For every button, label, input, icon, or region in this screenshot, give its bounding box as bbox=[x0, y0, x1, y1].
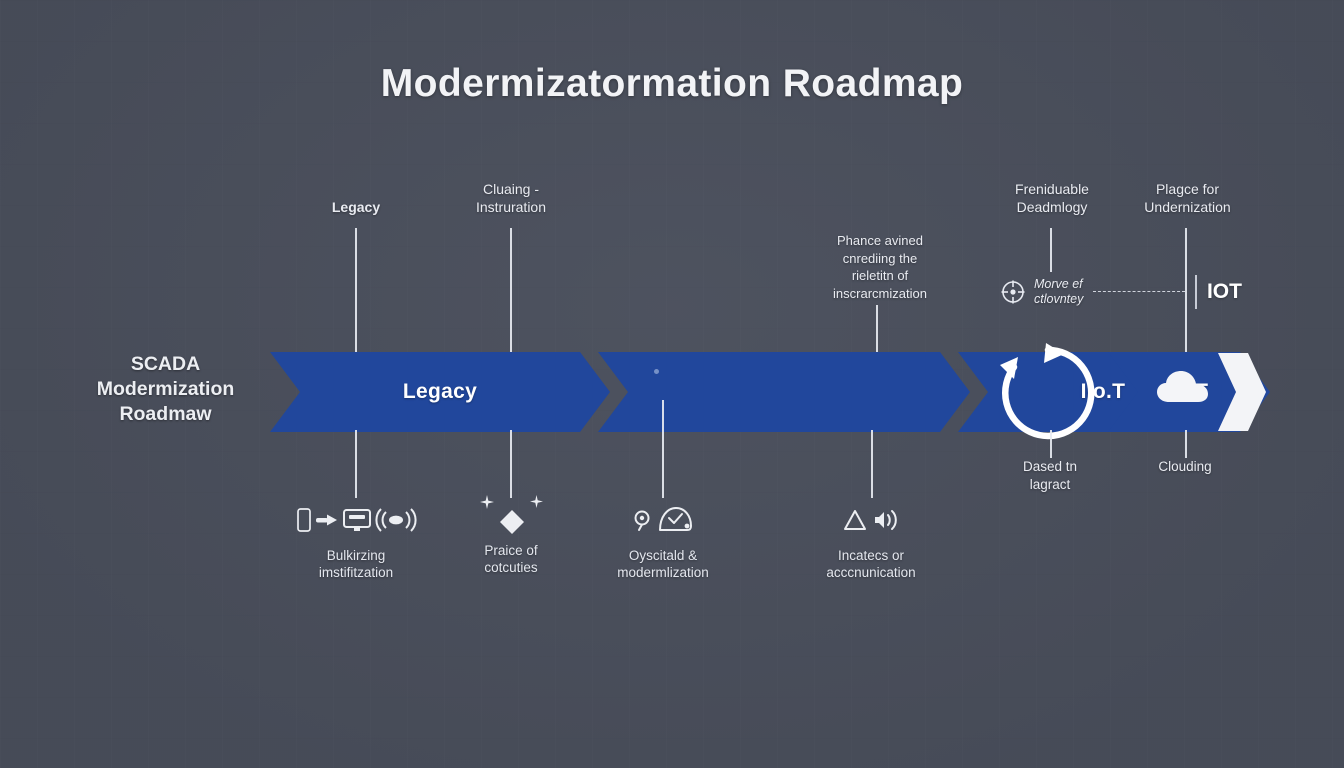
connector-line-incatecs bbox=[871, 430, 873, 498]
callout-freniduable: Freniduable Deadmlogy bbox=[982, 180, 1122, 216]
arrow-right-icon bbox=[316, 513, 338, 527]
callout-phance-line-1: Phance avined bbox=[792, 232, 968, 250]
callout-phance: Phance avined cnrediing the rieletitn of… bbox=[792, 232, 968, 302]
connector-line-phance-top bbox=[876, 305, 878, 355]
icon-group-incatecs: Incatecs or acccnunication bbox=[776, 500, 966, 581]
callout-freniduable-line-2: Deadmlogy bbox=[982, 198, 1122, 216]
speaker-icon bbox=[872, 509, 900, 531]
icon-group-oyscitald-caption-line-2: modermlization bbox=[568, 564, 758, 581]
left-heading-block: SCADA Modermization Roadmaw bbox=[58, 352, 273, 427]
icon-group-oyscitald-caption: Oyscitald & modermlization bbox=[568, 547, 758, 581]
banner-segment-2[interactable] bbox=[598, 352, 970, 432]
left-heading-line-1: SCADA bbox=[58, 352, 273, 377]
left-heading-line-2: Modermization bbox=[58, 377, 273, 402]
connector-line-legacy-top bbox=[355, 228, 357, 354]
callout-phance-line-3: rieletitn of bbox=[792, 267, 968, 285]
connector-line-praice bbox=[510, 430, 512, 498]
callout-clouding-line-1: Clouding bbox=[1125, 458, 1245, 476]
banner-label-legacy: Legacy bbox=[270, 352, 610, 432]
icon-group-incatecs-caption: Incatecs or acccnunication bbox=[776, 547, 966, 581]
callout-legacy: Legacy bbox=[286, 198, 426, 216]
connector-line-dased bbox=[1050, 430, 1052, 458]
shield-check-icon bbox=[657, 506, 695, 534]
iot-label: IOT bbox=[1207, 280, 1242, 304]
iot-connector-row: Morve ef ctlovntey IOT bbox=[1000, 272, 1242, 312]
callout-plagce-line-2: Undernization bbox=[1115, 198, 1260, 216]
cycle-arrow-icon bbox=[996, 341, 1100, 445]
left-heading-line-3: Roadmaw bbox=[58, 402, 273, 427]
iot-row-text-line-1: Morve ef bbox=[1034, 277, 1083, 292]
connector-line-oyscitald bbox=[662, 400, 664, 498]
page-title: Modermizatormation Roadmap bbox=[0, 62, 1344, 106]
callout-legacy-line-1: Legacy bbox=[286, 198, 426, 216]
broadcast-signal-icon bbox=[376, 508, 416, 532]
callout-clouding: Clouding bbox=[1125, 458, 1245, 476]
dashed-connector-line bbox=[1093, 291, 1185, 293]
callout-plagce: Plagce for Undernization bbox=[1115, 180, 1260, 216]
connector-line-clouding bbox=[1185, 430, 1187, 458]
connector-line-freniduable-top bbox=[1050, 228, 1052, 272]
vertical-divider bbox=[1195, 275, 1197, 309]
roadmap-chevron-banner: Legacy IIo.T IIoT bbox=[270, 352, 1270, 432]
iot-row-text: Morve ef ctlovntey bbox=[1034, 277, 1083, 307]
callout-cluaing-line-2: Instruration bbox=[441, 198, 581, 216]
callout-cluaing-line-1: Cluaing - bbox=[441, 180, 581, 198]
callout-phance-line-2: cnrediing the bbox=[792, 250, 968, 268]
icon-group-oyscitald: Oyscitald & modermlization bbox=[568, 500, 758, 581]
gear-small-icon bbox=[632, 509, 652, 531]
connector-line-plagce-top bbox=[1185, 228, 1187, 356]
callout-dased-line-1: Dased tn bbox=[990, 458, 1110, 476]
icon-group-incatecs-caption-line-2: acccnunication bbox=[776, 564, 966, 581]
phone-icon bbox=[297, 508, 311, 532]
sparkle-icon bbox=[530, 495, 543, 510]
sparkle-icon bbox=[480, 495, 494, 511]
cloud-icon bbox=[1155, 368, 1211, 408]
icon-group-oyscitald-glyphs bbox=[568, 500, 758, 540]
diamond-icon bbox=[499, 509, 525, 535]
callout-dased-line-2: lagract bbox=[990, 476, 1110, 494]
connector-line-bulkirzing bbox=[355, 430, 357, 498]
icon-group-incatecs-caption-line-1: Incatecs or bbox=[776, 547, 966, 564]
callout-freniduable-line-1: Freniduable bbox=[982, 180, 1122, 198]
callout-phance-line-4: inscrarcmization bbox=[792, 285, 968, 303]
icon-group-incatecs-glyphs bbox=[776, 500, 966, 540]
triangle-icon bbox=[843, 509, 867, 531]
banner-accent-dot bbox=[654, 369, 659, 374]
callout-dased: Dased tn lagract bbox=[990, 458, 1110, 494]
iot-row-text-line-2: ctlovntey bbox=[1034, 292, 1083, 307]
connector-line-cluaing-top bbox=[510, 228, 512, 354]
icon-group-oyscitald-caption-line-1: Oyscitald & bbox=[568, 547, 758, 564]
callout-plagce-line-1: Plagce for bbox=[1115, 180, 1260, 198]
crosshair-target-icon bbox=[1000, 279, 1026, 305]
monitor-icon bbox=[343, 508, 371, 532]
callout-cluaing: Cluaing - Instruration bbox=[441, 180, 581, 216]
infographic-canvas: Modermizatormation Roadmap SCADA Modermi… bbox=[0, 0, 1344, 768]
